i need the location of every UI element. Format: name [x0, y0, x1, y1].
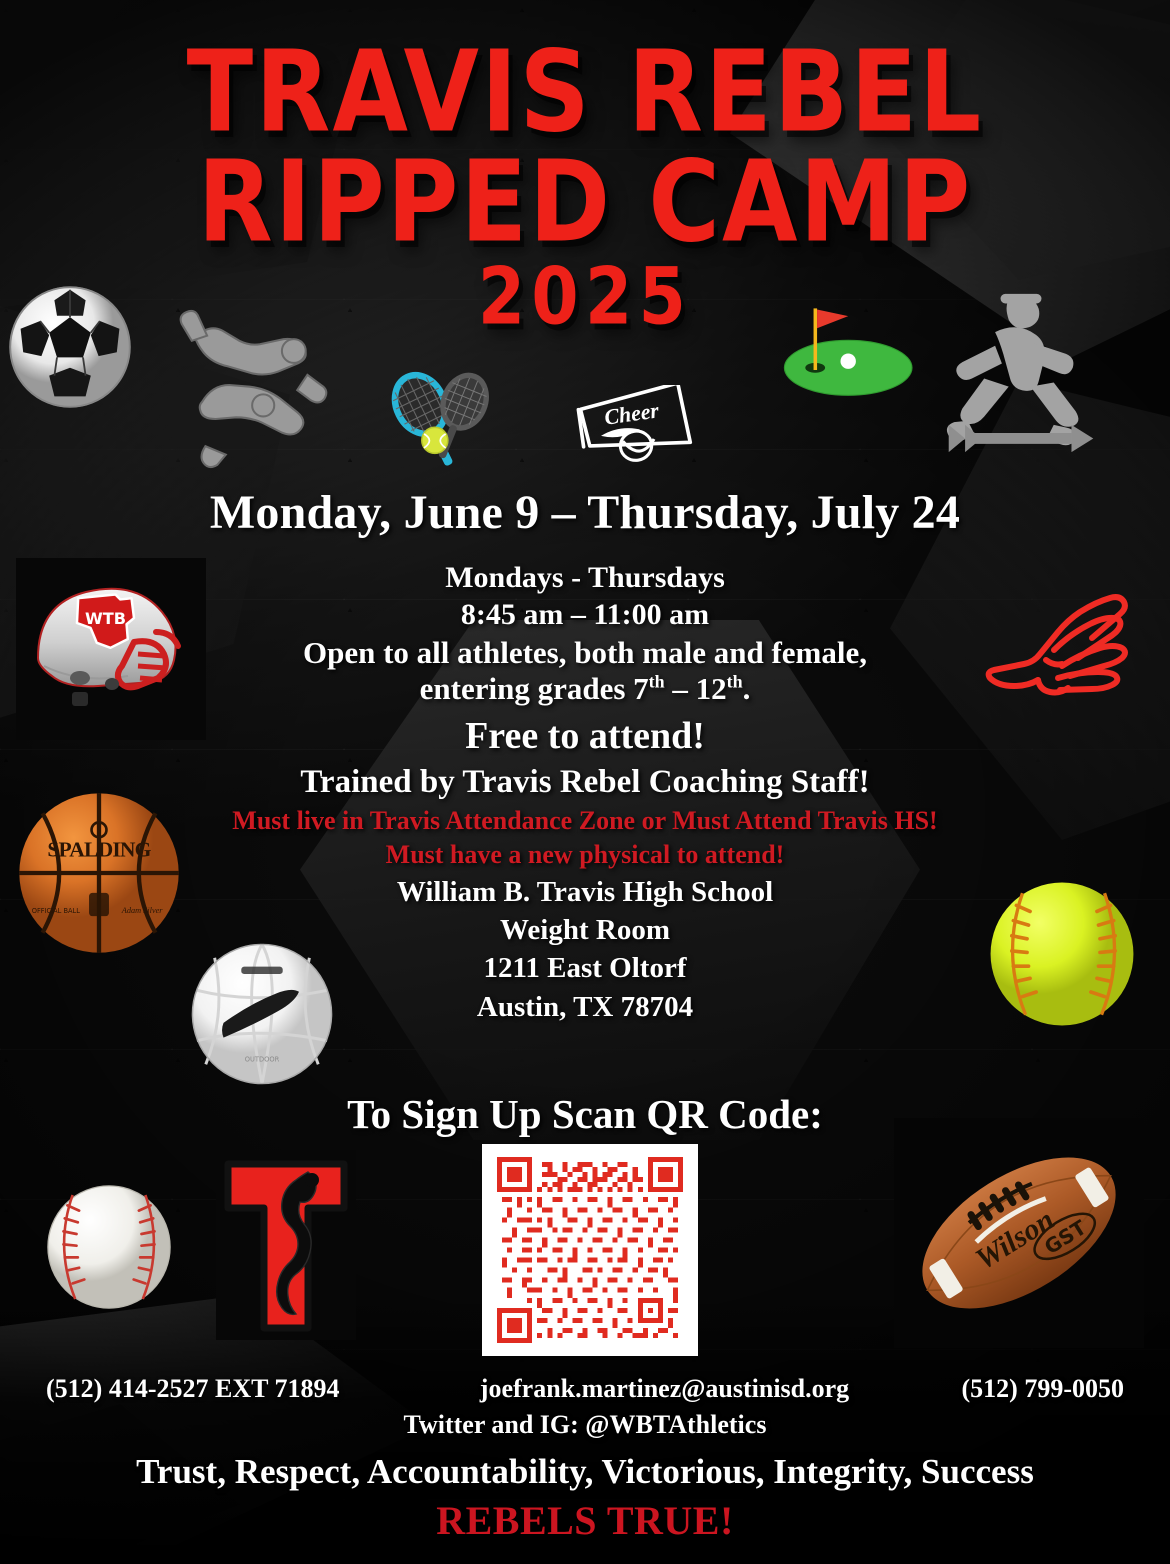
grades-prefix: entering grades 7 — [420, 671, 649, 706]
school-motto: Trust, Respect, Accountability, Victorio… — [0, 1452, 1170, 1492]
poster-title: TRAVIS REBEL RIPPED CAMP 2025 — [0, 38, 1170, 323]
signup-heading: To Sign Up Scan QR Code: — [0, 1090, 1170, 1138]
flyer-poster: Cheer — [0, 0, 1170, 1564]
venue-city: Austin, TX 78704 — [0, 990, 1170, 1024]
date-range-heading: Monday, June 9 – Thursday, July 24 — [0, 485, 1170, 540]
grades-middle: – 12 — [665, 671, 727, 706]
grades-suffix: . — [743, 671, 751, 706]
venue-name: William B. Travis High School — [0, 875, 1170, 909]
grades-sup-1: th — [649, 672, 665, 692]
camp-free-badge: Free to attend! — [0, 714, 1170, 759]
venue-street: 1211 East Oltorf — [0, 951, 1170, 985]
camp-warning-physical: Must have a new physical to attend! — [0, 840, 1170, 871]
contact-social[interactable]: Twitter and IG: @WBTAthletics — [0, 1410, 1170, 1440]
venue-room: Weight Room — [0, 913, 1170, 947]
camp-grades: entering grades 7th – 12th. — [0, 671, 1170, 708]
title-line-1: TRAVIS REBEL — [0, 38, 1170, 148]
camp-warning-zone: Must live in Travis Attendance Zone or M… — [0, 806, 1170, 837]
contact-phone-secondary[interactable]: (512) 799-0050 — [962, 1374, 1124, 1404]
camp-time: 8:45 am – 11:00 am — [0, 597, 1170, 632]
contact-row: (512) 414-2527 EXT 71894 joefrank.martin… — [0, 1374, 1170, 1404]
camp-days: Mondays - Thursdays — [0, 560, 1170, 595]
camp-open-to: Open to all athletes, both male and fema… — [0, 635, 1170, 672]
title-line-2: RIPPED CAMP — [0, 148, 1170, 258]
camp-details: Mondays - Thursdays 8:45 am – 11:00 am O… — [0, 560, 1170, 1024]
contact-email[interactable]: joefrank.martinez@austinisd.org — [480, 1374, 849, 1404]
camp-trained-by: Trained by Travis Rebel Coaching Staff! — [0, 763, 1170, 802]
school-slogan: REBELS TRUE! — [0, 1497, 1170, 1544]
title-year: 2025 — [0, 260, 1170, 337]
grades-sup-2: th — [727, 672, 743, 692]
qr-code[interactable] — [482, 1144, 698, 1356]
contact-phone-primary[interactable]: (512) 414-2527 EXT 71894 — [46, 1374, 339, 1404]
